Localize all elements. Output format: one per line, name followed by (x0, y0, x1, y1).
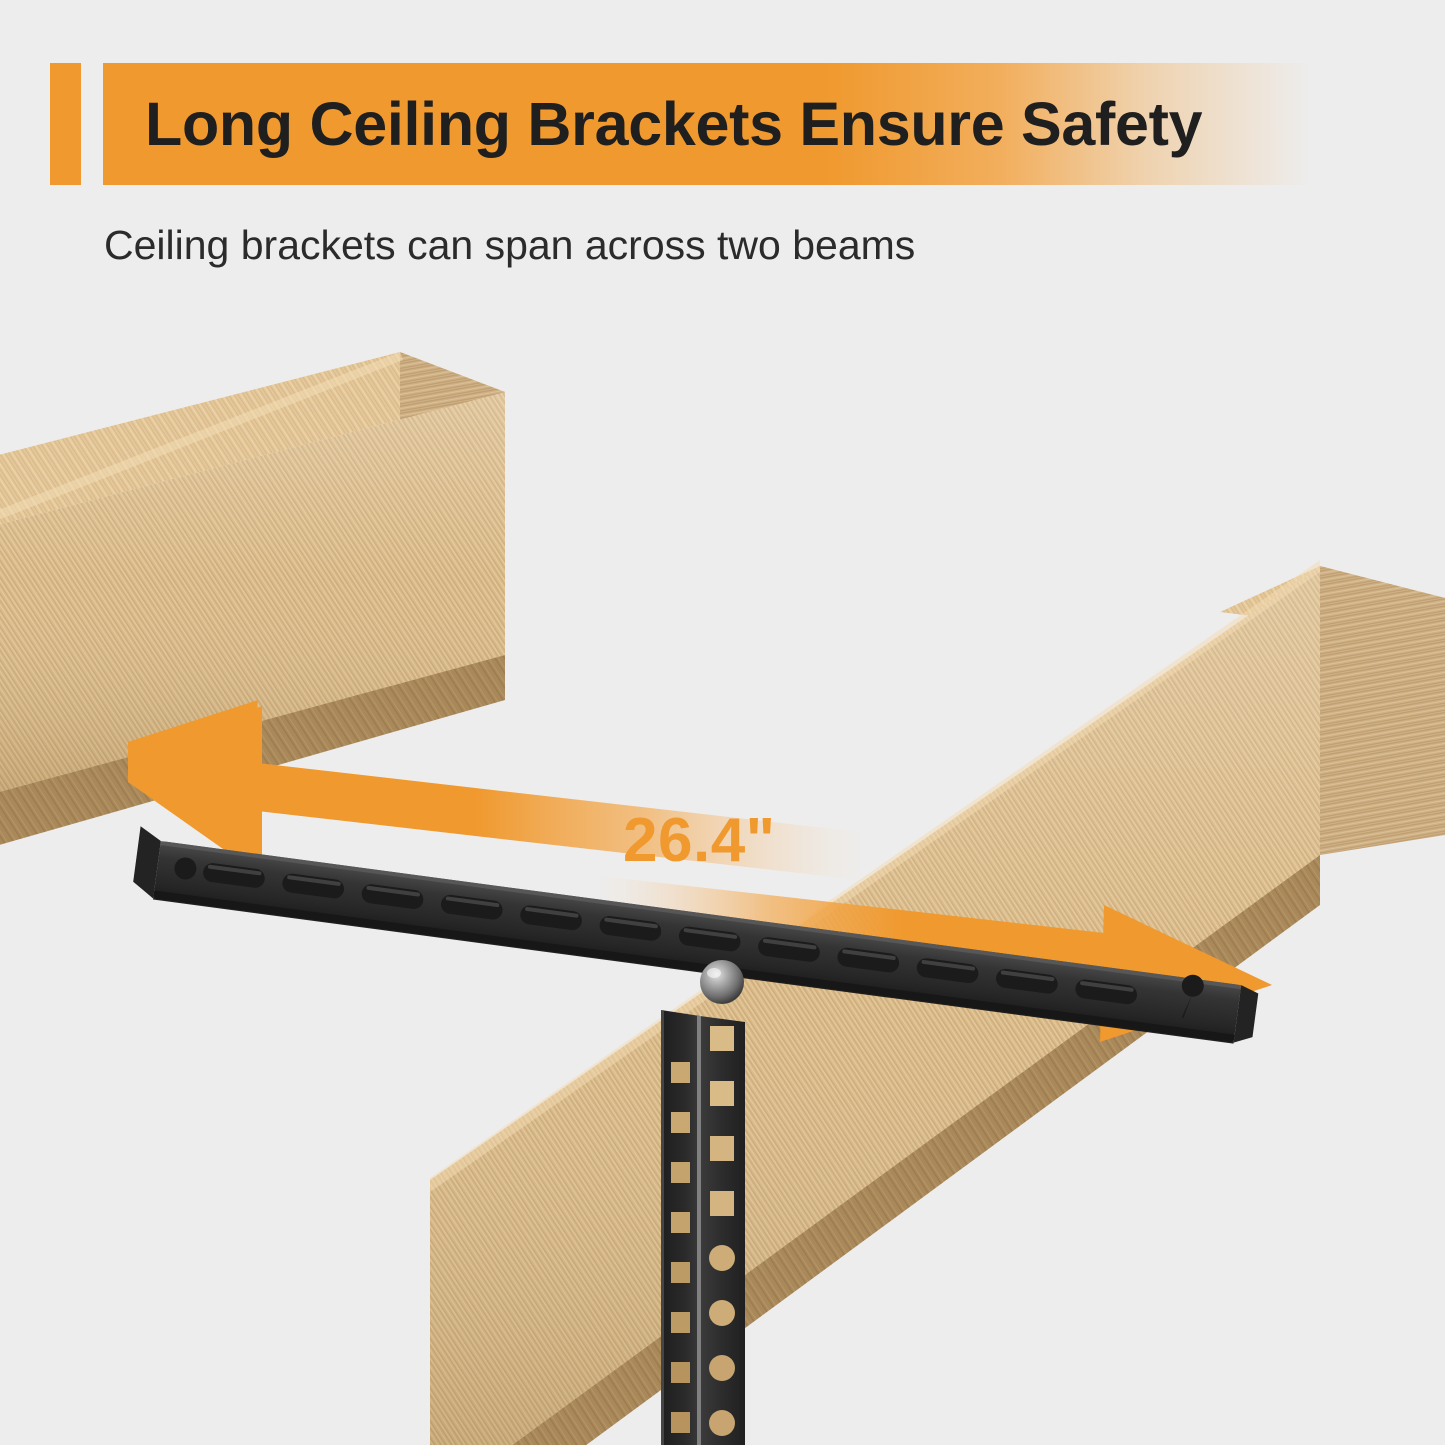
beam-right-end-face (1320, 566, 1445, 855)
product-feature-image: 26.4" Long Ceiling Brackets Ensure Safet… (0, 0, 1445, 1445)
bracket-vertical-post (661, 1010, 745, 1445)
title-accent-bar (50, 63, 81, 185)
post-outer-highlight (661, 1010, 664, 1445)
header: Long Ceiling Brackets Ensure Safety Ceil… (0, 0, 1445, 300)
page-title: Long Ceiling Brackets Ensure Safety (145, 63, 1385, 185)
bracket-pivot-bolt-highlight (707, 968, 721, 978)
span-measurement-label: 26.4" (623, 805, 776, 876)
post-corner-highlight (697, 1016, 701, 1445)
page-subtitle: Ceiling brackets can span across two bea… (104, 222, 915, 269)
bracket-pivot-bolt (700, 960, 744, 1004)
